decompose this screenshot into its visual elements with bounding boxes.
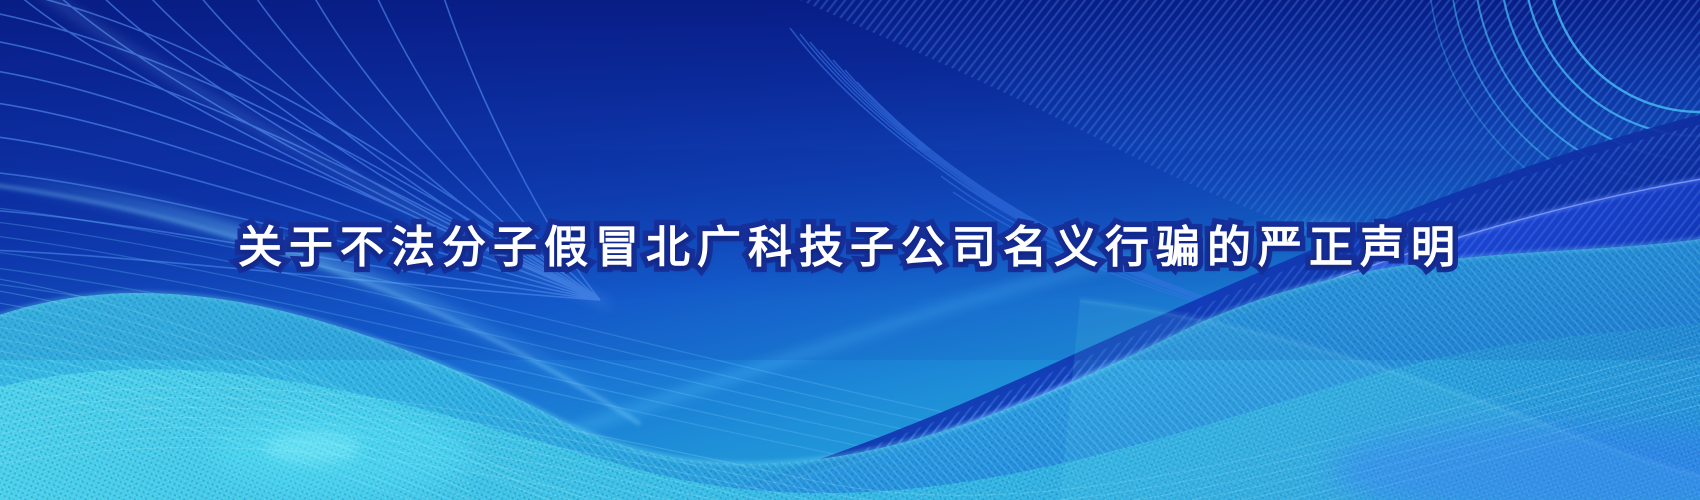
title-vignette xyxy=(0,150,1700,360)
background-artwork xyxy=(0,0,1700,500)
banner-root: 关于不法分子假冒北广科技子公司名义行骗的严正声明 xyxy=(0,0,1700,500)
cyan-glow-spot-core xyxy=(264,432,360,464)
